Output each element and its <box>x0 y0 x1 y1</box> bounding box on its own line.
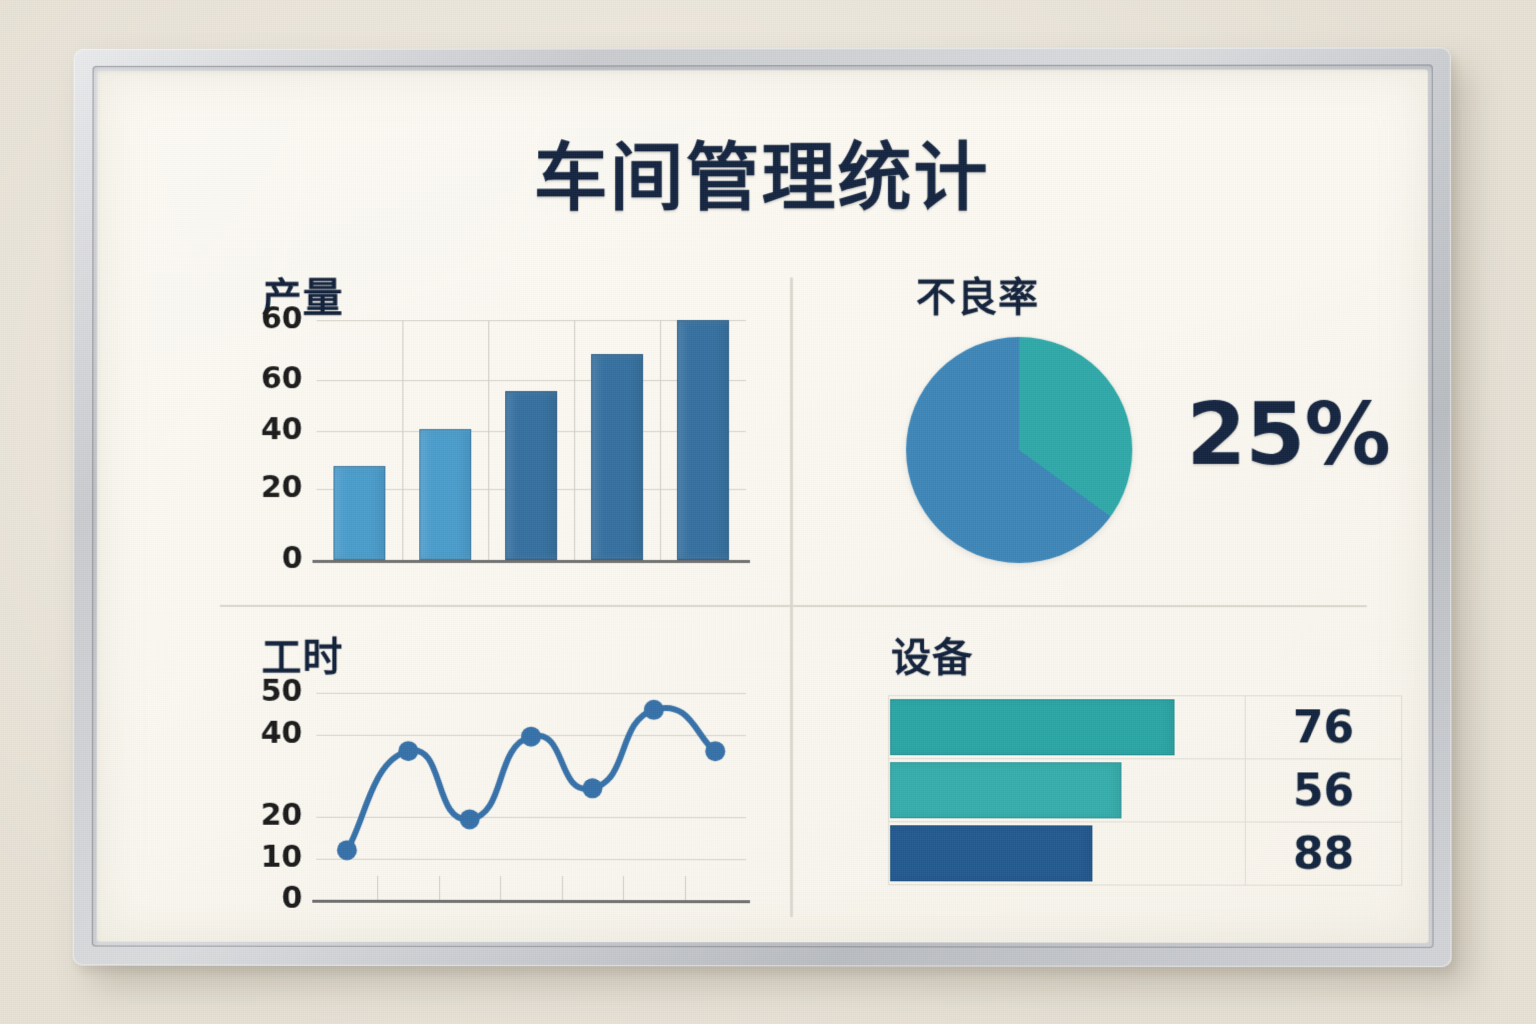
line-chart-y-tick-label: 50 <box>255 674 303 709</box>
bar-chart-category-tick <box>574 320 575 560</box>
line-chart-baseline <box>312 900 750 903</box>
defect-rate-pie-chart <box>906 337 1132 563</box>
bar-chart-y-tick-label: 20 <box>255 470 303 505</box>
page-title: 车间管理统计 <box>97 118 1427 226</box>
defect-panel-title: 不良率 <box>916 265 1039 323</box>
equipment-bar-cell <box>889 759 1246 822</box>
divider-vertical <box>790 277 793 917</box>
equipment-value-cell: 56 <box>1245 759 1402 822</box>
bar-chart-bar <box>505 391 557 559</box>
bar-chart-y-tick-label: 0 <box>255 541 303 576</box>
bar-chart-category-tick <box>402 320 403 560</box>
bar-chart-category-tick <box>488 320 489 560</box>
output-bar-chart-panel: 产量 606040200 <box>207 265 776 595</box>
divider-horizontal <box>220 605 1367 607</box>
line-chart-marker <box>582 778 602 798</box>
line-chart-marker <box>460 809 480 829</box>
defect-rate-panel: 不良率 25% <box>856 265 1417 595</box>
bar-chart-category-tick <box>660 320 661 560</box>
whiteboard-frame: 车间管理统计 产量 606040200 不良率 25% 工时 504020100 <box>73 47 1452 967</box>
equipment-bar-cell <box>889 696 1246 759</box>
whiteboard-surface: 车间管理统计 产量 606040200 不良率 25% 工时 504020100 <box>97 70 1429 943</box>
bar-chart-y-tick-label: 60 <box>255 301 303 336</box>
line-chart-y-tick-label: 10 <box>254 839 302 874</box>
equipment-value-cell: 88 <box>1245 822 1402 885</box>
equipment-value-cell: 76 <box>1245 696 1402 759</box>
bar-chart-bar <box>677 320 729 560</box>
equipment-bar <box>890 762 1121 818</box>
bar-chart-bar <box>419 429 471 560</box>
line-chart-marker <box>337 840 357 860</box>
line-chart-y-tick-label: 40 <box>254 715 302 750</box>
line-chart-marker <box>644 700 664 720</box>
table-row: 76 <box>889 696 1402 759</box>
equipment-table: 765688 <box>888 695 1402 886</box>
equipment-panel-title: 设备 <box>891 625 973 683</box>
wall-background: 车间管理统计 产量 606040200 不良率 25% 工时 504020100 <box>0 0 1536 1024</box>
hours-line-chart-panel: 工时 504020100 <box>206 615 776 925</box>
line-chart-marker <box>398 741 418 761</box>
line-chart-marker <box>521 727 541 747</box>
bar-chart-bar <box>334 466 386 560</box>
equipment-bar <box>890 699 1174 755</box>
bar-chart-y-tick-label: 40 <box>255 413 303 448</box>
bar-chart-baseline <box>312 560 750 563</box>
defect-rate-value: 25% <box>1186 385 1389 485</box>
line-chart-marker <box>705 741 725 761</box>
equipment-panel: 设备 765688 <box>856 615 1417 926</box>
line-chart-series <box>316 685 746 900</box>
equipment-bar <box>890 825 1093 881</box>
equipment-bar-cell <box>889 822 1246 885</box>
table-row: 56 <box>889 759 1402 822</box>
line-chart-y-tick-label: 20 <box>254 798 302 833</box>
line-chart-y-tick-label: 0 <box>254 881 302 916</box>
bar-chart-bar <box>591 354 643 560</box>
bar-chart-y-tick-label: 60 <box>255 361 303 396</box>
table-row: 88 <box>889 822 1402 886</box>
line-chart-plot-area <box>316 685 746 900</box>
